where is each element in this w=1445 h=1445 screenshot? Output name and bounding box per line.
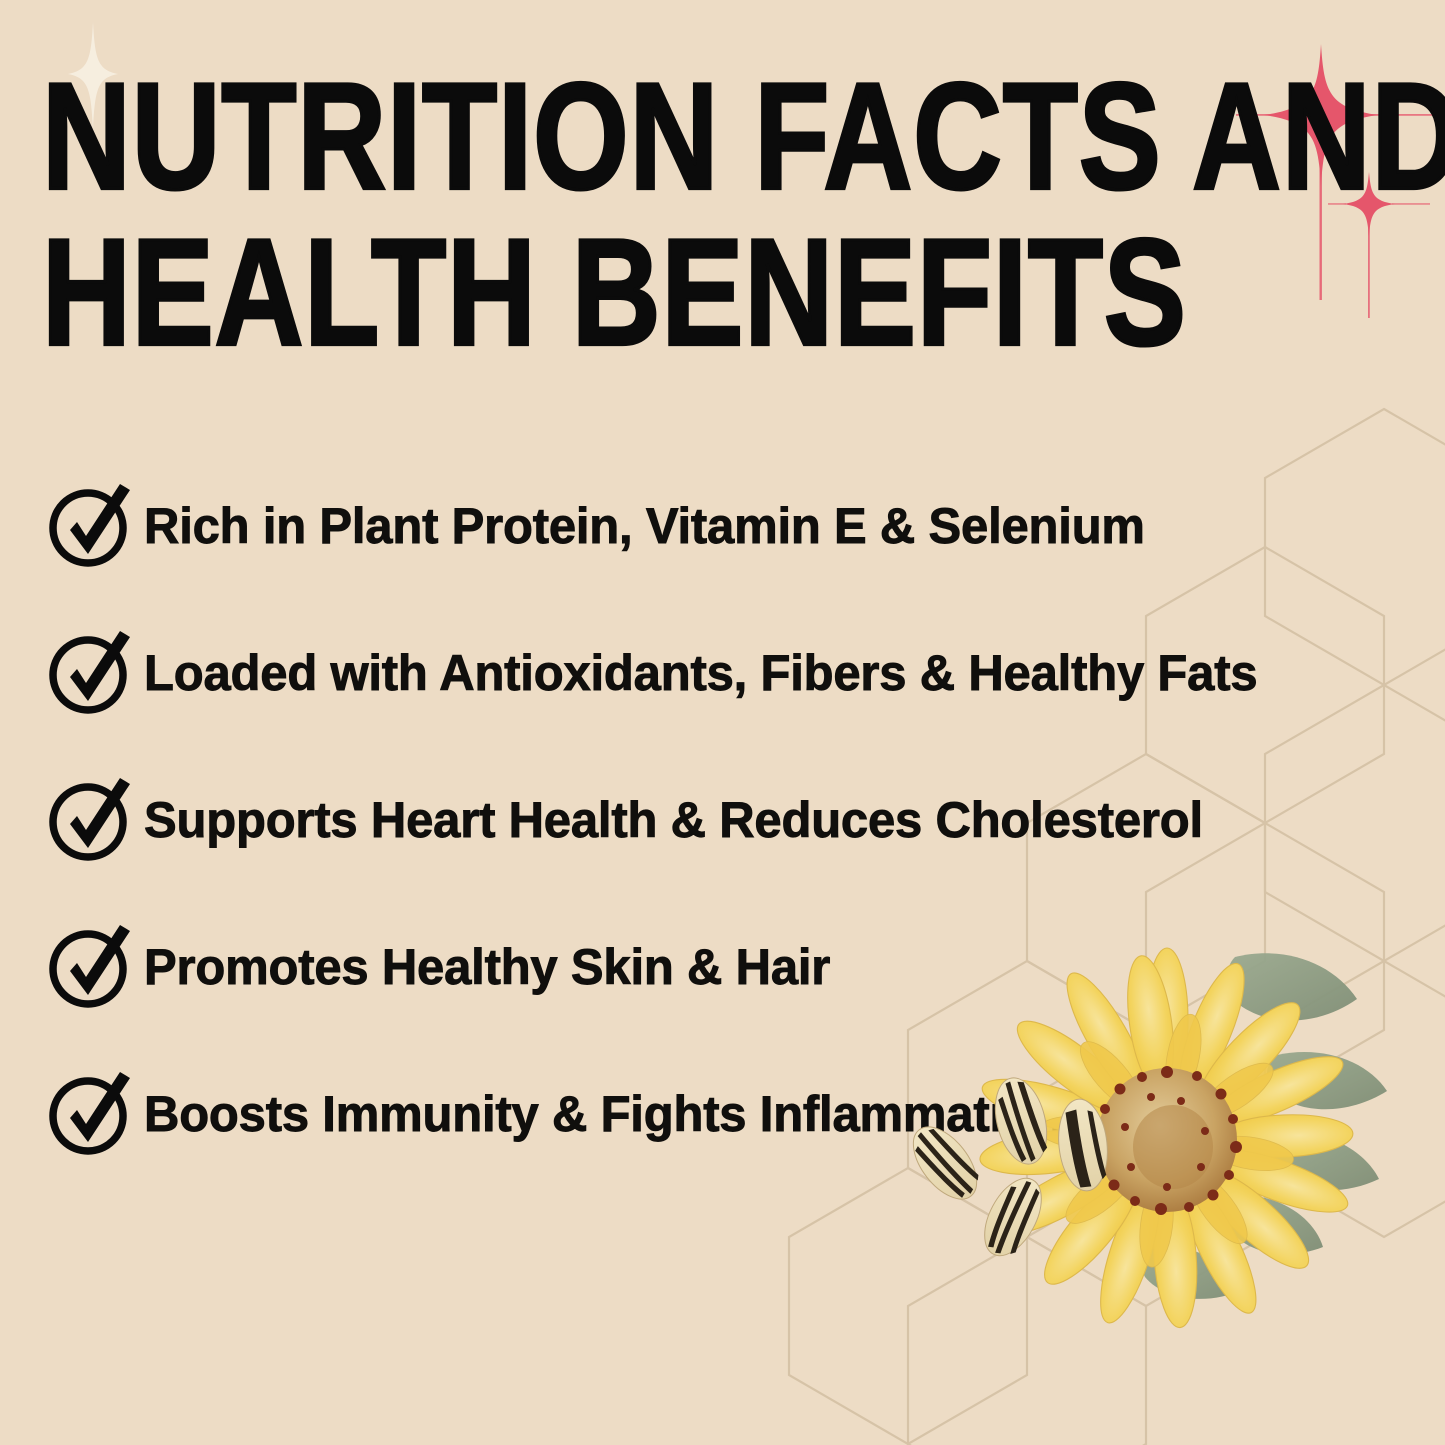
- check-circle-icon: [44, 625, 140, 721]
- title-line-1: NUTRITION FACTS AND: [42, 58, 1031, 217]
- poster-canvas: NUTRITION FACTS AND HEALTH BENEFITS Rich…: [0, 0, 1445, 1445]
- check-circle-icon: [44, 919, 140, 1015]
- list-item: Promotes Healthy Skin & Hair: [40, 893, 1240, 1040]
- check-circle-icon: [44, 772, 140, 868]
- list-item-label: Promotes Healthy Skin & Hair: [144, 941, 830, 993]
- list-item-label: Supports Heart Health & Reduces Choleste…: [144, 794, 1203, 846]
- list-item-label: Boosts Immunity & Fights Inflammation: [144, 1088, 1062, 1140]
- list-item: Loaded with Antioxidants, Fibers & Healt…: [40, 599, 1240, 746]
- benefits-list: Rich in Plant Protein, Vitamin E & Selen…: [40, 452, 1240, 1187]
- check-circle-icon: [44, 1066, 140, 1162]
- list-item-label: Rich in Plant Protein, Vitamin E & Selen…: [144, 500, 1145, 552]
- list-item: Rich in Plant Protein, Vitamin E & Selen…: [40, 452, 1240, 599]
- title-line-2: HEALTH BENEFITS: [42, 214, 1031, 373]
- list-item: Boosts Immunity & Fights Inflammation: [40, 1040, 1240, 1187]
- list-item-label: Loaded with Antioxidants, Fibers & Healt…: [144, 647, 1257, 699]
- list-item: Supports Heart Health & Reduces Choleste…: [40, 746, 1240, 893]
- page-title: NUTRITION FACTS AND HEALTH BENEFITS: [42, 58, 1192, 364]
- check-circle-icon: [44, 478, 140, 574]
